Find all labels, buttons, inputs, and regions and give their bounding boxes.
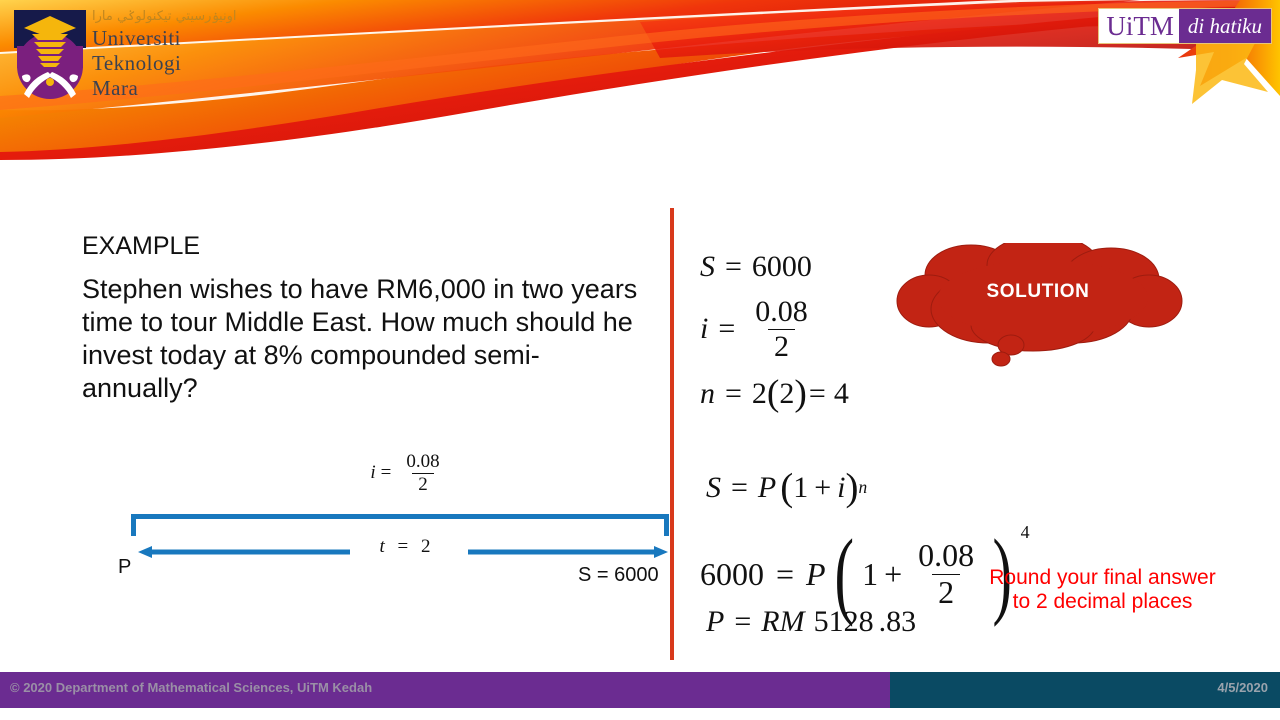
timeline-diagram: i = 0.08 2 t = 2 P S = 6000: [60, 452, 640, 592]
university-wordmark: اونيۏرسيتي تيكنولوݢي مارا Universiti Tek…: [92, 8, 282, 108]
eq4-principal: P: [758, 471, 776, 505]
wordmark-line-1: Universiti: [92, 26, 282, 51]
equation-given-n: n = 2 ( 2 ) = 4: [700, 372, 849, 415]
eq4-open-paren: (: [780, 465, 793, 510]
eq5-principal: P: [806, 556, 826, 593]
column-divider: [670, 208, 674, 660]
eq6-equals: =: [734, 605, 751, 639]
example-question-text: Stephen wishes to have RM6,000 in two ye…: [82, 273, 647, 405]
eq3-equals-2: =: [809, 377, 826, 411]
eq1-rhs: 6000: [752, 250, 812, 284]
eq2-equals: =: [718, 312, 735, 346]
eq1-lhs: S: [700, 250, 715, 284]
timeline-time-value: 2: [421, 536, 431, 557]
eq5-denominator: 2: [932, 574, 960, 610]
solution-cloud-label: SOLUTION: [893, 281, 1183, 303]
timeline-label-future-value: S = 6000: [578, 564, 659, 587]
eq3-close-paren: ): [794, 372, 807, 415]
footer-date: 4/5/2020: [1217, 680, 1268, 695]
eq2-denominator: 2: [768, 329, 795, 363]
timeline-rate-expression: i = 0.08 2: [345, 452, 475, 495]
eq6-decimals: .83: [879, 605, 917, 639]
solution-cloud: SOLUTION: [893, 243, 1183, 375]
eq3-equals: =: [725, 377, 742, 411]
eq2-numerator: 0.08: [749, 296, 814, 329]
eq5-plus: +: [884, 556, 902, 593]
eq4-equals: =: [731, 471, 748, 505]
eq3-factor-b: 2: [779, 377, 794, 411]
slide: اونيۏرسيتي تيكنولوݢي مارا Universiti Tek…: [0, 0, 1280, 720]
eq3-factor-a: 2: [752, 377, 767, 411]
timeline-rate-numerator: 0.08: [400, 452, 445, 473]
equation-given-i: i = 0.08 2: [700, 296, 818, 362]
logo-tagline-text: di hatiku: [1179, 9, 1271, 43]
eq4-one: 1: [793, 471, 808, 505]
example-heading: EXAMPLE: [82, 232, 647, 261]
eq4-close-paren: ): [846, 465, 859, 510]
eq5-numerator: 0.08: [912, 539, 980, 574]
eq4-exponent: n: [859, 477, 868, 498]
eq5-equals: =: [776, 556, 794, 593]
eq3-open-paren: (: [767, 372, 780, 415]
slide-footer: © 2020 Department of Mathematical Scienc…: [0, 672, 1280, 708]
timeline-rate-denominator: 2: [412, 473, 434, 495]
equation-formula-compound: S = P ( 1 + i ) n: [706, 465, 867, 510]
eq2-lhs: i: [700, 312, 708, 346]
footer-copyright: © 2020 Department of Mathematical Scienc…: [10, 680, 372, 695]
equation-answer: P = RM 5128 .83: [706, 605, 916, 639]
uitm-di-hatiku-logo: UiTM di hatiku: [1098, 8, 1272, 44]
eq5-exponent: 4: [1021, 522, 1030, 543]
eq5-one: 1: [862, 556, 878, 593]
timeline-time-expression: t = 2: [335, 536, 475, 558]
timeline-time-variable: t: [380, 536, 385, 557]
eq1-equals: =: [725, 250, 742, 284]
wordmark-arabic: اونيۏرسيتي تيكنولوݢي مارا: [92, 8, 282, 26]
eq3-lhs: n: [700, 377, 715, 411]
wordmark-line-3: Mara: [92, 76, 282, 101]
eq4-plus: +: [814, 471, 831, 505]
example-section: EXAMPLE Stephen wishes to have RM6,000 i…: [82, 232, 647, 405]
eq4-lhs: S: [706, 471, 721, 505]
eq4-rate: i: [837, 471, 845, 505]
eq3-result: 4: [834, 377, 849, 411]
timeline-rate-equals: =: [381, 462, 392, 484]
rounding-note: Round your final answer to 2 decimal pla…: [985, 566, 1220, 614]
timeline-rate-variable: i: [370, 462, 375, 484]
wordmark-line-2: Teknologi: [92, 51, 282, 76]
timeline-label-present-value: P: [118, 556, 131, 579]
logo-uitm-text: UiTM: [1099, 9, 1179, 43]
timeline-bracket: [131, 514, 669, 536]
eq5-lhs: 6000: [700, 556, 764, 593]
eq6-currency: RM: [761, 605, 804, 639]
timeline-time-equals: =: [398, 536, 409, 557]
equation-given-S: S = 6000: [700, 250, 812, 284]
eq6-value: 5128: [814, 605, 874, 639]
uitm-crest-icon: [14, 10, 86, 106]
eq6-lhs: P: [706, 605, 724, 639]
